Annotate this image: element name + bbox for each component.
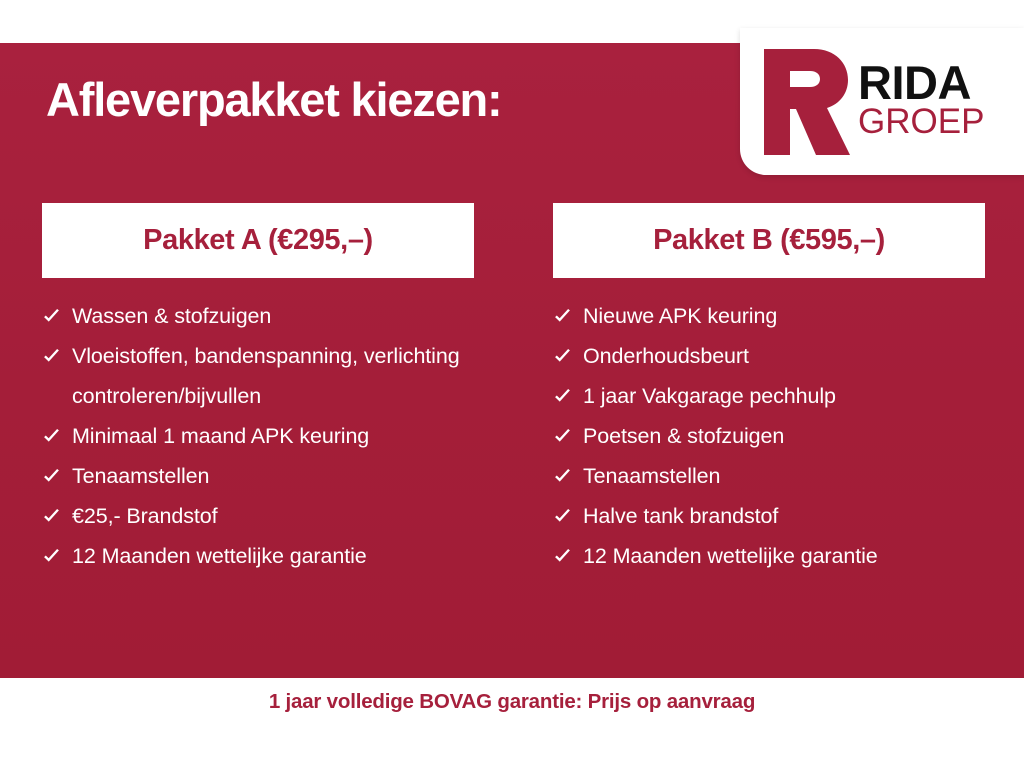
check-icon [42, 536, 72, 576]
check-icon [553, 376, 583, 416]
check-icon [42, 336, 72, 376]
package-a-feature-list: Wassen & stofzuigen Vloeistoffen, banden… [42, 296, 474, 576]
check-icon [42, 456, 72, 496]
list-item-label: Poetsen & stofzuigen [583, 416, 985, 456]
check-icon [553, 536, 583, 576]
poster-canvas: Afleverpakket kiezen: RIDA GROEP Pakket … [0, 0, 1024, 768]
footer-guarantee-text: 1 jaar volledige BOVAG garantie: Prijs o… [0, 690, 1024, 714]
footer-bar: 1 jaar volledige BOVAG garantie: Prijs o… [0, 678, 1024, 768]
list-item: €25,- Brandstof [42, 496, 474, 536]
brand-wordmark: RIDA GROEP [858, 61, 984, 141]
check-icon [553, 496, 583, 536]
list-item-label: Halve tank brandstof [583, 496, 985, 536]
list-item-label: Onderhoudsbeurt [583, 336, 985, 376]
package-column-b: Pakket B (€595,–) Nieuwe APK keuring Ond… [553, 203, 985, 576]
list-item-label: 12 Maanden wettelijke garantie [72, 536, 474, 576]
list-item: 12 Maanden wettelijke garantie [42, 536, 474, 576]
list-item: Minimaal 1 maand APK keuring [42, 416, 474, 456]
list-item-label: Wassen & stofzuigen [72, 296, 474, 336]
brand-logo-plate: RIDA GROEP [740, 28, 1024, 175]
list-item-label: 12 Maanden wettelijke garantie [583, 536, 985, 576]
list-item-label: €25,- Brandstof [72, 496, 474, 536]
list-item-label: Tenaamstellen [583, 456, 985, 496]
check-icon [42, 416, 72, 456]
list-item: Poetsen & stofzuigen [553, 416, 985, 456]
check-icon [553, 296, 583, 336]
package-column-a: Pakket A (€295,–) Wassen & stofzuigen Vl… [42, 203, 474, 576]
check-icon [42, 496, 72, 536]
list-item: Nieuwe APK keuring [553, 296, 985, 336]
check-icon [553, 416, 583, 456]
package-b-header[interactable]: Pakket B (€595,–) [553, 203, 985, 278]
list-item: 12 Maanden wettelijke garantie [553, 536, 985, 576]
package-a-header[interactable]: Pakket A (€295,–) [42, 203, 474, 278]
check-icon [42, 296, 72, 336]
brand-name: RIDA [858, 61, 984, 104]
list-item: Vloeistoffen, bandenspanning, verlichtin… [42, 336, 474, 416]
list-item: 1 jaar Vakgarage pechhulp [553, 376, 985, 416]
check-icon [553, 456, 583, 496]
list-item-label: Tenaamstellen [72, 456, 474, 496]
package-b-heading-label: Pakket B (€595,–) [653, 224, 885, 257]
check-icon [553, 336, 583, 376]
list-item-label: 1 jaar Vakgarage pechhulp [583, 376, 985, 416]
list-item: Onderhoudsbeurt [553, 336, 985, 376]
list-item: Tenaamstellen [42, 456, 474, 496]
list-item: Wassen & stofzuigen [42, 296, 474, 336]
brand-subname: GROEP [858, 106, 984, 138]
package-a-heading-label: Pakket A (€295,–) [143, 224, 373, 257]
page-title: Afleverpakket kiezen: [46, 76, 501, 123]
list-item-label: Nieuwe APK keuring [583, 296, 985, 336]
rida-r-mark-icon [756, 43, 852, 161]
list-item-label: Vloeistoffen, bandenspanning, verlichtin… [72, 336, 474, 416]
list-item: Halve tank brandstof [553, 496, 985, 536]
list-item: Tenaamstellen [553, 456, 985, 496]
package-b-feature-list: Nieuwe APK keuring Onderhoudsbeurt 1 jaa… [553, 296, 985, 576]
list-item-label: Minimaal 1 maand APK keuring [72, 416, 474, 456]
